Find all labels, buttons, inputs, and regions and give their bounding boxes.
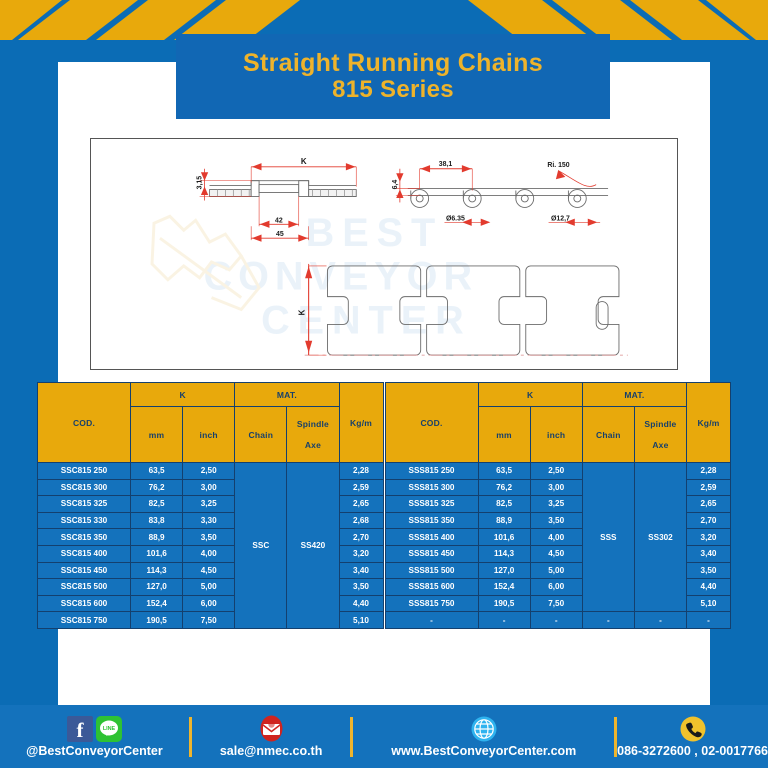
header-axe: Axe [635, 440, 686, 450]
header-mat: MAT. [235, 383, 339, 407]
cell-kgm: 5,10 [687, 595, 731, 612]
cell-kgm: 2,65 [687, 496, 731, 513]
cell-inch: 4,50 [530, 545, 582, 562]
table-header-row-1: COD. K MAT. Kg/m [385, 383, 731, 407]
drawing-vectors: 3,15 K 42 45 6,4 38,1 Ri. 150 Ø6.35 Ø12,… [91, 139, 677, 369]
email-label: sale@nmec.co.th [220, 744, 323, 758]
dim-small-hole: Ø6.35 [446, 215, 465, 222]
header-axe: Axe [287, 440, 338, 450]
title-line-2: 815 Series [332, 77, 454, 104]
cell-mm: 76,2 [478, 479, 530, 496]
header-chain: Chain [235, 407, 287, 463]
cell-cod: SSS815 750 [385, 595, 478, 612]
cell-mm: 101,6 [478, 529, 530, 546]
footer-website[interactable]: www.BestConveyorCenter.com [353, 705, 614, 768]
cell-cod: - [385, 612, 478, 629]
footer-email[interactable]: sale@nmec.co.th [192, 705, 351, 768]
cell-cod: SSC815 400 [38, 545, 131, 562]
cell-kgm: 2,70 [687, 512, 731, 529]
cell-chain: - [582, 612, 634, 629]
cell-mm: 152,4 [478, 579, 530, 596]
watermark: BEST CONVEYOR CENTER [91, 139, 677, 369]
cell-inch: 4,50 [183, 562, 235, 579]
header-chain: Chain [582, 407, 634, 463]
cell-spindle-axe: SS420 [287, 463, 339, 629]
cell-cod: SSC815 750 [38, 612, 131, 629]
cell-mm: 101,6 [131, 545, 183, 562]
dim-plan-k: K [298, 309, 307, 315]
cell-kgm: 4,40 [687, 579, 731, 596]
contact-footer: f LINE @BestConveyorCenter sale@nmec.co.… [0, 705, 768, 768]
cell-mm: 88,9 [131, 529, 183, 546]
table-body-ssc: SSC815 25063,52,50SSCSS4202,28SSC815 300… [38, 463, 384, 629]
cell-kgm: 3,40 [687, 545, 731, 562]
table-row: SSC815 25063,52,50SSCSS4202,28 [38, 463, 384, 480]
cell-cod: SSC815 600 [38, 595, 131, 612]
cell-cod: SSC815 250 [38, 463, 131, 480]
cell-inch: 3,00 [530, 479, 582, 496]
header-k: K [478, 383, 582, 407]
cell-inch: 3,50 [530, 512, 582, 529]
cell-cod: SSC815 500 [38, 579, 131, 596]
dim-inner-width: 42 [275, 217, 283, 224]
svg-text:f: f [76, 718, 84, 742]
page-title: Straight Running Chains 815 Series [176, 34, 610, 119]
technical-drawing-panel: BEST CONVEYOR CENTER [90, 138, 678, 370]
header-kgm: Kg/m [687, 383, 731, 463]
cell-kgm: 4,40 [339, 595, 383, 612]
header-k: K [131, 383, 235, 407]
cell-inch: 7,50 [530, 595, 582, 612]
cell-inch: 3,25 [183, 496, 235, 513]
header-cod: COD. [385, 383, 478, 463]
cell-cod: SSS815 600 [385, 579, 478, 596]
table-row: SSS815 25063,52,50SSSSS3022,28 [385, 463, 731, 480]
cell-inch: 5,00 [530, 562, 582, 579]
cell-kgm: 2,70 [339, 529, 383, 546]
spec-table-sss: COD. K MAT. Kg/m mm inch Chain Spindle A… [385, 382, 732, 629]
header-mm: mm [131, 407, 183, 463]
header-mm: mm [478, 407, 530, 463]
cell-kgm: 5,10 [339, 612, 383, 629]
cell-kgm: 2,65 [339, 496, 383, 513]
website-label: www.BestConveyorCenter.com [391, 744, 576, 758]
cell-inch: 7,50 [183, 612, 235, 629]
cell-cod: SSS815 400 [385, 529, 478, 546]
cell-inch: 3,25 [530, 496, 582, 513]
email-icon[interactable] [258, 715, 285, 742]
cell-mm: 82,5 [478, 496, 530, 513]
title-line-1: Straight Running Chains [243, 49, 543, 77]
facebook-icon[interactable]: f [67, 716, 93, 742]
cell-cod: SSC815 325 [38, 496, 131, 513]
cell-kgm: - [687, 612, 731, 629]
cell-cod: SSS815 350 [385, 512, 478, 529]
cell-spindle-axe: SS302 [634, 463, 686, 612]
cell-cod: SSS815 250 [385, 463, 478, 480]
cell-mm: 114,3 [131, 562, 183, 579]
cell-mm: 127,0 [478, 562, 530, 579]
cell-mm: 114,3 [478, 545, 530, 562]
cell-kgm: 2,68 [339, 512, 383, 529]
cell-chain: SSS [582, 463, 634, 612]
cell-chain: SSC [235, 463, 287, 629]
dim-radius: Ri. 150 [547, 162, 569, 169]
cell-mm: 152,4 [131, 595, 183, 612]
cell-cod: SSS815 300 [385, 479, 478, 496]
table-body-sss: SSS815 25063,52,50SSSSS3022,28SSS815 300… [385, 463, 731, 629]
dim-large-hole: Ø12,7 [551, 215, 570, 222]
cell-inch: 4,00 [183, 545, 235, 562]
svg-text:LINE: LINE [103, 726, 116, 732]
cell-cod: SSS815 325 [385, 496, 478, 513]
dim-pitch: 38,1 [439, 161, 453, 168]
cell-mm: - [478, 612, 530, 629]
header-mat: MAT. [582, 383, 686, 407]
line-icon[interactable]: LINE [96, 716, 122, 742]
cell-inch: - [530, 612, 582, 629]
cell-kgm: 2,28 [687, 463, 731, 480]
cell-cod: SSC815 450 [38, 562, 131, 579]
footer-phone[interactable]: 086-3272600 , 02-0017766 [617, 705, 768, 768]
cell-inch: 6,00 [183, 595, 235, 612]
cell-kgm: 3,40 [339, 562, 383, 579]
header-spindle: Spindle [287, 419, 338, 429]
dim-side-thickness: 6,4 [392, 180, 399, 190]
cell-cod: SSC815 330 [38, 512, 131, 529]
cell-spindle: - [634, 612, 686, 629]
watermark-line-2: CONVEYOR [204, 255, 478, 299]
header-inch: inch [530, 407, 582, 463]
cell-cod: SSS815 450 [385, 545, 478, 562]
cell-mm: 190,5 [131, 612, 183, 629]
dim-k: K [301, 157, 307, 166]
watermark-line-3: CENTER [261, 298, 472, 342]
cell-kgm: 3,20 [687, 529, 731, 546]
cell-mm: 82,5 [131, 496, 183, 513]
header-kgm: Kg/m [339, 383, 383, 463]
dim-outer-width: 45 [276, 231, 284, 238]
cell-inch: 3,30 [183, 512, 235, 529]
cell-inch: 3,00 [183, 479, 235, 496]
cell-kgm: 3,20 [339, 545, 383, 562]
cell-cod: SSS815 500 [385, 562, 478, 579]
phone-label: 086-3272600 , 02-0017766 [617, 744, 768, 758]
spec-tables: COD. K MAT. Kg/m mm inch Chain Spindle A… [37, 382, 731, 629]
cell-inch: 4,00 [530, 529, 582, 546]
dim-thickness: 3,15 [197, 176, 204, 190]
cell-cod: SSC815 350 [38, 529, 131, 546]
cell-mm: 190,5 [478, 595, 530, 612]
footer-social[interactable]: f LINE @BestConveyorCenter [0, 705, 189, 768]
cell-mm: 83,8 [131, 512, 183, 529]
social-handle-label: @BestConveyorCenter [26, 744, 163, 758]
header-cod: COD. [38, 383, 131, 463]
cell-cod: SSC815 300 [38, 479, 131, 496]
watermark-line-1: BEST [306, 211, 443, 255]
cell-mm: 88,9 [478, 512, 530, 529]
cell-inch: 3,50 [183, 529, 235, 546]
table-header-row-1: COD. K MAT. Kg/m [38, 383, 384, 407]
cell-mm: 127,0 [131, 579, 183, 596]
table-row: ------ [385, 612, 731, 629]
phone-icon[interactable] [679, 715, 707, 743]
cell-inch: 2,50 [530, 463, 582, 480]
cell-kgm: 2,28 [339, 463, 383, 480]
globe-icon[interactable] [470, 715, 498, 743]
spec-table-ssc: COD. K MAT. Kg/m mm inch Chain Spindle A… [37, 382, 384, 629]
header-inch: inch [183, 407, 235, 463]
header-spindle: Spindle [635, 419, 686, 429]
cell-kgm: 3,50 [339, 579, 383, 596]
cell-kgm: 3,50 [687, 562, 731, 579]
cell-kgm: 2,59 [339, 479, 383, 496]
header-spindle-axe: Spindle Axe [634, 407, 686, 463]
cell-inch: 6,00 [530, 579, 582, 596]
cell-inch: 5,00 [183, 579, 235, 596]
cell-mm: 63,5 [478, 463, 530, 480]
header-spindle-axe: Spindle Axe [287, 407, 339, 463]
cell-kgm: 2,59 [687, 479, 731, 496]
cell-inch: 2,50 [183, 463, 235, 480]
cell-mm: 76,2 [131, 479, 183, 496]
cell-mm: 63,5 [131, 463, 183, 480]
